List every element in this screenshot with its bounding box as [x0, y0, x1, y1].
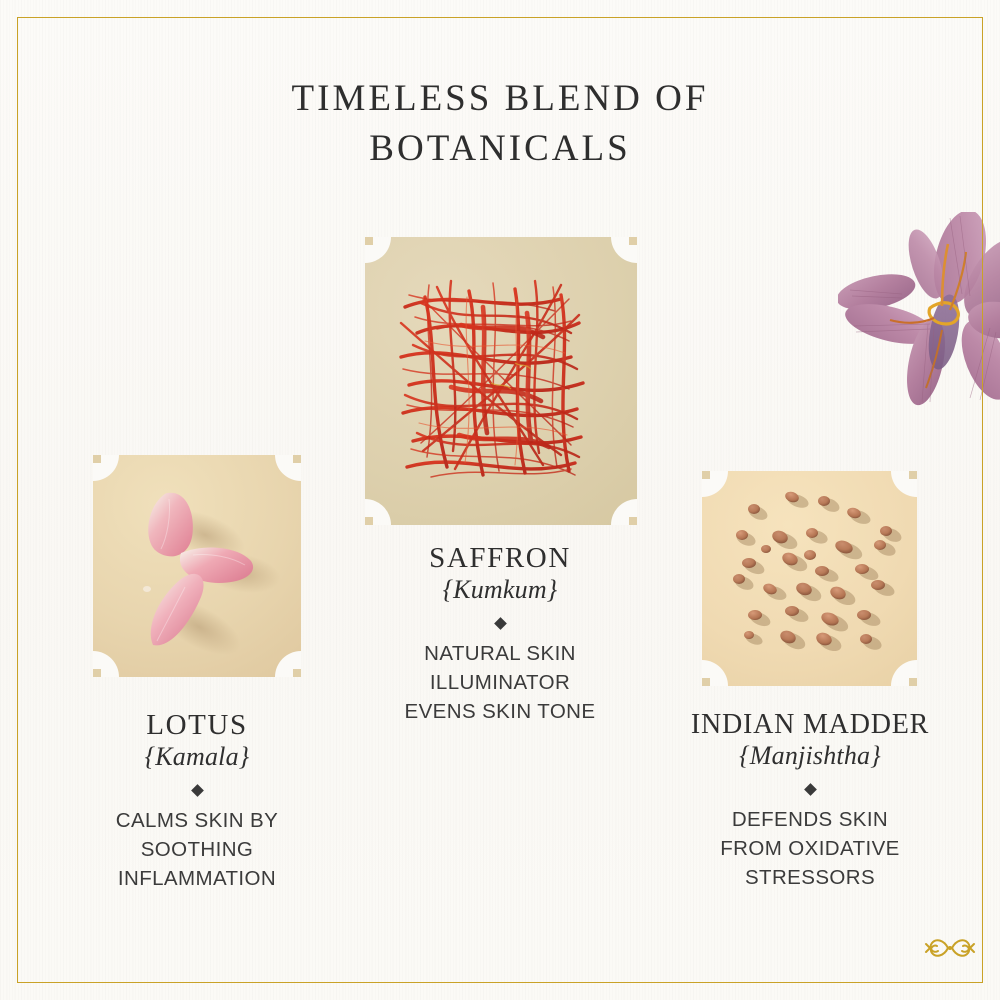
ingredient-sanskrit-madder: {Manjishtha} [650, 740, 970, 772]
benefit-line-3: STRESSORS [650, 863, 970, 892]
ingredient-label-lotus: LOTUS {Kamala} CALMS SKIN BY SOOTHING IN… [47, 710, 347, 893]
ingredient-name-lotus: LOTUS [47, 710, 347, 741]
gold-fleuron-icon [924, 932, 976, 964]
benefit-line-3: INFLAMMATION [47, 864, 347, 893]
benefit-line-2: ILLUMINATOR [350, 668, 650, 697]
diamond-bullet-icon [191, 784, 204, 797]
benefit-line-1: NATURAL SKIN [350, 639, 650, 668]
benefit-line-1: CALMS SKIN BY [47, 806, 347, 835]
lotus-photo [93, 455, 301, 677]
botanicals-infographic: TIMELESS BLEND OF BOTANICALS [0, 0, 1000, 1000]
page-title: TIMELESS BLEND OF BOTANICALS [0, 74, 1000, 173]
benefit-line-2: SOOTHING [47, 835, 347, 864]
ingredient-card-saffron [365, 237, 637, 525]
diamond-bullet-icon [804, 783, 817, 796]
ingredient-label-madder: INDIAN MADDER {Manjishtha} DEFENDS SKIN … [650, 710, 970, 892]
ingredient-card-madder [702, 471, 917, 686]
ingredient-sanskrit-lotus: {Kamala} [47, 741, 347, 773]
ingredient-sanskrit-saffron: {Kumkum} [350, 574, 650, 606]
madder-photo [702, 471, 917, 686]
saffron-crocus-flower-icon [838, 212, 1000, 412]
title-line-2: BOTANICALS [0, 124, 1000, 174]
benefit-line-1: DEFENDS SKIN [650, 805, 970, 834]
benefit-line-2: FROM OXIDATIVE [650, 834, 970, 863]
title-line-1: TIMELESS BLEND OF [0, 74, 1000, 124]
saffron-photo [365, 237, 637, 525]
ingredient-name-saffron: SAFFRON [350, 543, 650, 574]
ingredient-name-madder: INDIAN MADDER [650, 710, 970, 740]
ingredient-card-lotus [93, 455, 301, 677]
ingredient-label-saffron: SAFFRON {Kumkum} NATURAL SKIN ILLUMINATO… [350, 543, 650, 726]
diamond-bullet-icon [494, 617, 507, 630]
benefit-line-3: EVENS SKIN TONE [350, 697, 650, 726]
